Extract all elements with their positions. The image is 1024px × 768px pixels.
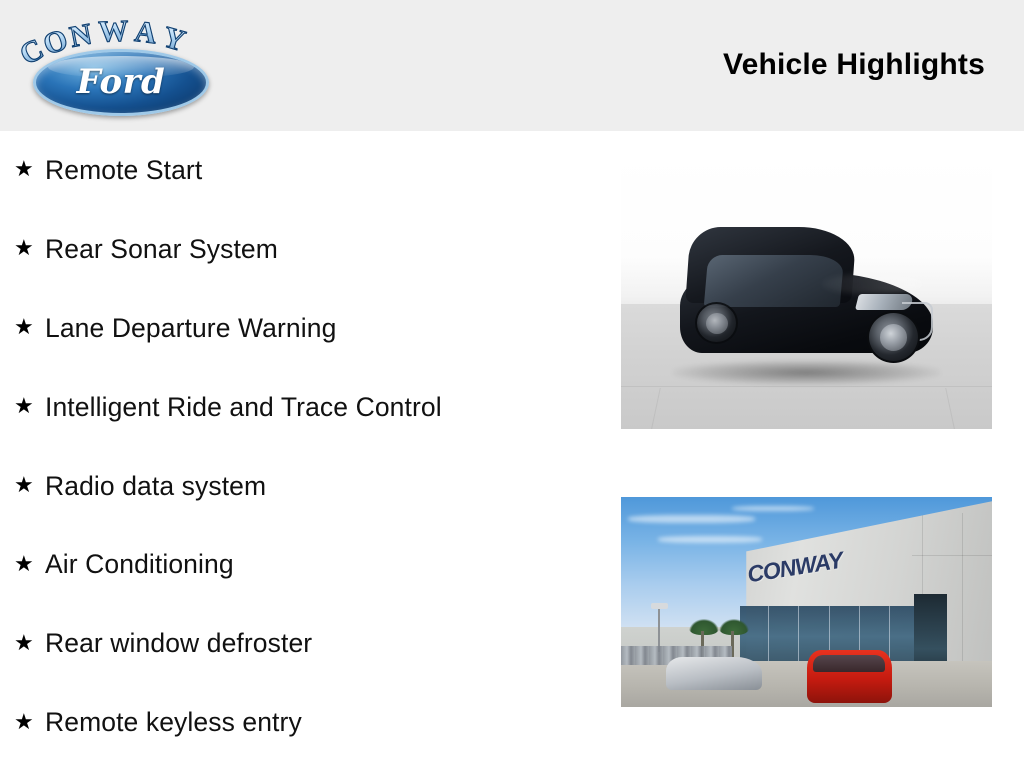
list-item-label: Remote keyless entry bbox=[45, 707, 302, 738]
palm-fronds bbox=[689, 619, 719, 635]
vehicle-photo[interactable] bbox=[621, 152, 992, 429]
star-icon: ★ bbox=[14, 474, 45, 496]
list-item-label: Radio data system bbox=[45, 471, 266, 502]
star-icon: ★ bbox=[14, 711, 45, 733]
list-item: ★ Radio data system bbox=[0, 447, 600, 526]
front-wheel bbox=[867, 311, 920, 363]
list-item: ★ Rear window defroster bbox=[0, 604, 600, 683]
conway-ford-logo[interactable]: C O N W A Y Ford bbox=[25, 16, 217, 116]
list-item: ★ Remote keyless entry bbox=[0, 683, 600, 762]
floor-seam bbox=[621, 386, 992, 387]
ford-script-label: Ford bbox=[36, 52, 206, 113]
star-icon: ★ bbox=[14, 158, 45, 180]
panel-seam bbox=[912, 555, 992, 556]
list-item: ★ Air Conditioning bbox=[0, 525, 600, 604]
car-hood-highlight bbox=[822, 274, 923, 295]
cloud bbox=[658, 536, 762, 543]
list-item-label: Air Conditioning bbox=[45, 549, 234, 580]
list-item: ★ Remote Start bbox=[0, 131, 600, 210]
floor-seam bbox=[651, 387, 661, 429]
list-item-label: Rear window defroster bbox=[45, 628, 312, 659]
star-icon: ★ bbox=[14, 553, 45, 575]
star-icon: ★ bbox=[14, 632, 45, 654]
conway-letter: W bbox=[98, 17, 128, 48]
list-item: ★ Lane Departure Warning bbox=[0, 289, 600, 368]
page-title: Vehicle Highlights bbox=[723, 48, 985, 82]
star-icon: ★ bbox=[14, 316, 45, 338]
list-item-label: Intelligent Ride and Trace Control bbox=[45, 392, 442, 423]
list-item: ★ Rear Sonar System bbox=[0, 210, 600, 289]
conway-letter: A bbox=[133, 17, 157, 49]
list-item-label: Remote Start bbox=[45, 155, 202, 186]
car-shadow bbox=[673, 360, 940, 385]
red-car bbox=[807, 650, 892, 703]
list-item: ★ Intelligent Ride and Trace Control bbox=[0, 368, 600, 447]
dealership-photo[interactable]: CONWAY bbox=[621, 497, 992, 707]
vehicle-highlights-list: ★ Remote Start ★ Rear Sonar System ★ Lan… bbox=[0, 131, 600, 762]
floor-seam bbox=[945, 387, 955, 429]
cloud bbox=[628, 515, 754, 523]
silver-car bbox=[666, 657, 762, 691]
list-item-label: Lane Departure Warning bbox=[45, 313, 336, 344]
page-content: ★ Remote Start ★ Rear Sonar System ★ Lan… bbox=[0, 131, 1024, 768]
ford-oval-icon: Ford bbox=[33, 49, 209, 116]
star-icon: ★ bbox=[14, 395, 45, 417]
car-silhouette bbox=[680, 227, 932, 357]
cloud bbox=[732, 506, 814, 511]
conway-letter: N bbox=[67, 20, 93, 53]
list-item-label: Rear Sonar System bbox=[45, 234, 278, 265]
page-header: C O N W A Y Ford Vehicle Highlights bbox=[0, 0, 1024, 131]
star-icon: ★ bbox=[14, 237, 45, 259]
palm-fronds bbox=[719, 619, 749, 635]
